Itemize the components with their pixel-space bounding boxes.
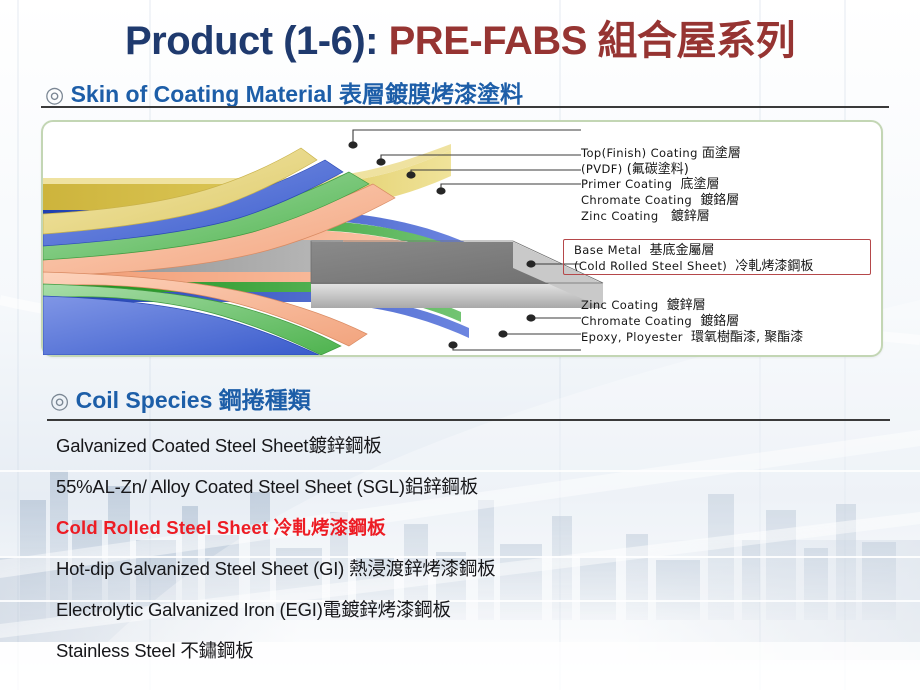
- section-rule-coil: [47, 419, 890, 421]
- ring-marker-icon: ◎: [45, 82, 64, 107]
- ring-marker-icon: ◎: [50, 388, 69, 413]
- base-metal-callout-box: [563, 239, 871, 275]
- diagram-label-zinc-top: Zinc Coating 鍍鋅層: [581, 205, 710, 224]
- page-title-primary: Product (1-6):: [125, 19, 389, 63]
- page-title: Product (1-6): PRE-FABS 組合屋系列: [0, 8, 920, 66]
- page-title-accent: PRE-FABS 組合屋系列: [389, 19, 795, 63]
- list-item[interactable]: Electrolytic Galvanized Iron (EGI)電鍍鋅烤漆鋼…: [56, 589, 886, 630]
- section-header-skin-of-coating: ◎ Skin of Coating Material 表層鍍膜烤漆塗料: [45, 75, 523, 109]
- list-item[interactable]: Galvanized Coated Steel Sheet鍍鋅鋼板: [56, 425, 886, 466]
- section-header-coil-species-label: Coil Species 鋼捲種類: [76, 387, 311, 413]
- list-item[interactable]: Hot-dip Galvanized Steel Sheet (GI) 熱浸渡鋅…: [56, 548, 886, 589]
- section-rule-skin: [41, 106, 889, 108]
- list-item[interactable]: Stainless Steel 不鏽鋼板: [56, 630, 886, 671]
- diagram-label-epoxy-ployester: Epoxy, Ployester 環氧樹酯漆, 聚酯漆: [581, 326, 803, 345]
- coil-species-list: Galvanized Coated Steel Sheet鍍鋅鋼板 55%AL-…: [56, 425, 886, 671]
- list-item[interactable]: Cold Rolled Steel Sheet 冷軋烤漆鋼板: [56, 507, 886, 548]
- list-item[interactable]: 55%AL-Zn/ Alloy Coated Steel Sheet (SGL)…: [56, 466, 886, 507]
- section-header-skin-of-coating-label: Skin of Coating Material 表層鍍膜烤漆塗料: [71, 81, 523, 107]
- section-header-coil-species: ◎ Coil Species 鋼捲種類: [50, 381, 311, 415]
